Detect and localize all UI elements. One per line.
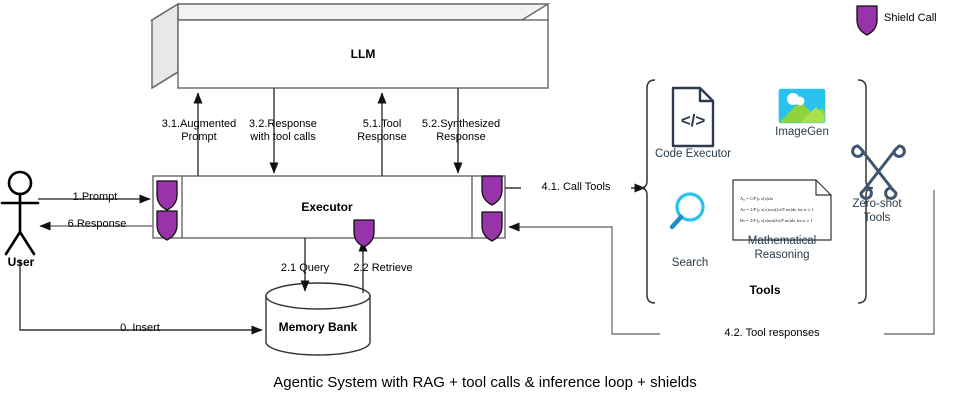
shield-legend-icon	[857, 6, 877, 35]
tool-label-search: Search	[660, 256, 720, 270]
llm-node[interactable]	[152, 4, 548, 88]
executor-label: Executor	[182, 200, 472, 214]
tool-label-imagegen: ImageGen	[762, 125, 842, 139]
tool-label-code-executor: Code Executor	[641, 147, 745, 161]
code-document-icon[interactable]: </>	[673, 88, 713, 146]
memory-bank-node[interactable]	[266, 283, 370, 355]
llm-label: LLM	[178, 47, 548, 61]
shield-memory[interactable]	[354, 220, 374, 247]
memory-bank-label: Memory Bank	[266, 320, 370, 334]
tool-label-zero-shot-tools: Zero-shot Tools	[838, 197, 916, 225]
diagram-caption: Agentic System with RAG + tool calls & i…	[0, 374, 970, 391]
magnifier-icon[interactable]	[672, 194, 703, 227]
legend-shield-label: Shield Call	[884, 12, 937, 24]
edge-insert	[20, 260, 262, 330]
image-icon[interactable]	[779, 89, 825, 123]
tools-group-label: Tools	[720, 283, 810, 297]
crossed-wrenches-icon[interactable]	[853, 146, 905, 198]
diagram-canvas: </> A₀ = 1/P ∫ₚ s(x)dx Aₙ =	[0, 0, 970, 411]
diagram-vector-layer: </> A₀ = 1/P ∫ₚ s(x)dx Aₙ =	[0, 0, 970, 411]
formula-document-icon[interactable]: A₀ = 1/P ∫ₚ s(x)dx Aₙ = 2/P ∫ₚ s(x)cos(2…	[733, 180, 831, 240]
user-node[interactable]	[2, 172, 38, 254]
user-label: User	[0, 255, 42, 269]
svg-text:</>: </>	[681, 111, 706, 130]
tool-label-mathematical-reasoning: Mathematical Reasoning	[727, 234, 837, 262]
tools-left-bracket	[640, 80, 655, 303]
